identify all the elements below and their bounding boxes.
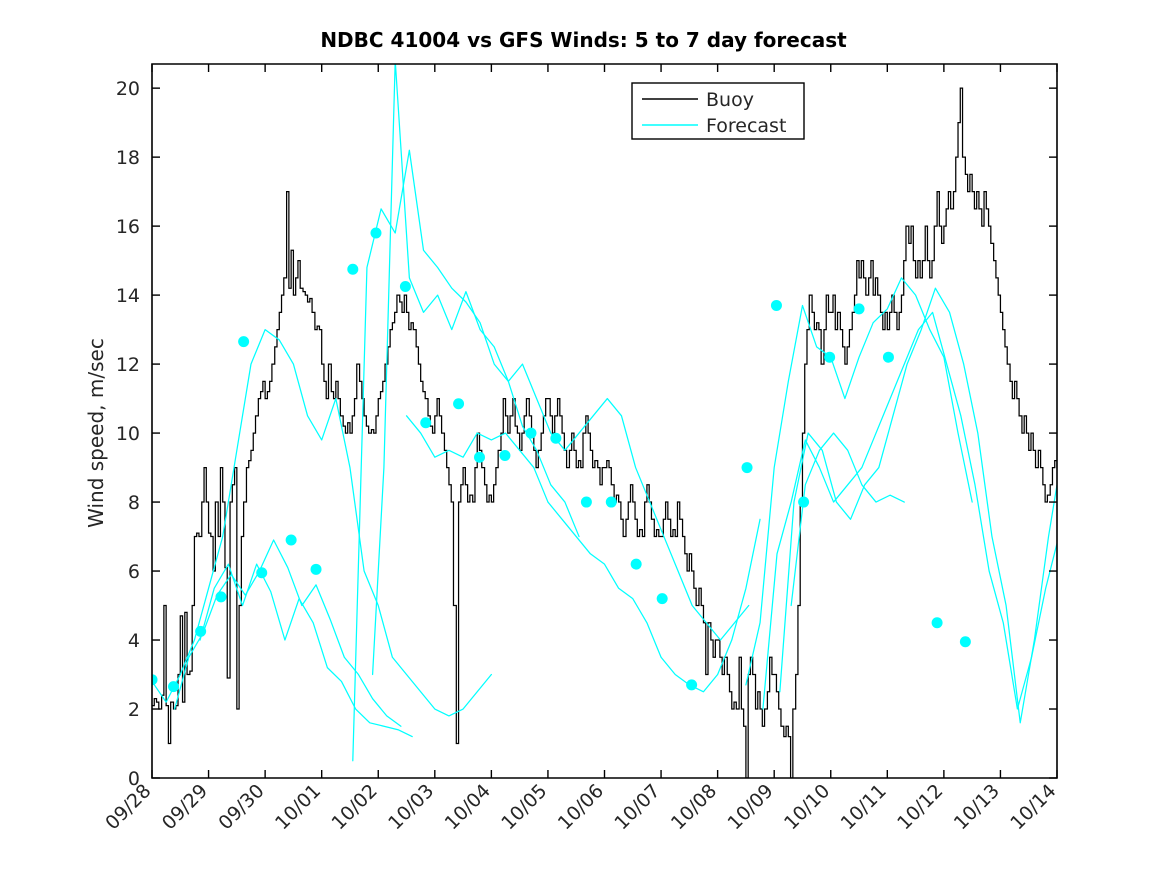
forecast-marker-point [347,264,358,275]
x-tick-label: 10/13 [950,780,1004,834]
forecast-marker-point [631,559,642,570]
y-tick-label: 10 [116,423,140,445]
forecast-marker-point [883,352,894,363]
forecast-marker-point [453,398,464,409]
forecast-series-line-5 [373,61,749,675]
x-tick-label: 10/11 [837,780,891,834]
forecast-marker-point [499,450,510,461]
plot-frame [152,64,1057,778]
x-tick-label: 10/12 [893,780,947,834]
forecast-marker-point [311,564,322,575]
wind-speed-line-chart: 0246810121416182009/2809/2909/3010/0110/… [0,0,1167,875]
x-tick-label: 10/14 [1006,780,1060,834]
x-tick-label: 10/08 [667,780,721,834]
forecast-series-line-4 [353,150,579,761]
series-layer [152,61,1057,778]
forecast-marker-point [824,352,835,363]
x-tick-label: 10/03 [384,780,438,834]
forecast-marker-point [370,228,381,239]
x-tick-label: 10/06 [554,780,608,834]
forecast-marker-point [932,617,943,628]
forecast-marker-point [606,497,617,508]
x-tick-label: 09/29 [158,780,212,834]
forecast-marker-point [771,300,782,311]
y-tick-label: 16 [116,216,140,238]
forecast-series-line-10 [791,433,904,605]
forecast-series-line-1 [152,330,491,716]
axes-layer: 0246810121416182009/2809/2909/3010/0110/… [101,64,1060,834]
forecast-marker-point [525,428,536,439]
x-tick-label: 10/01 [271,780,325,834]
buoy-series-line [152,88,1057,778]
forecast-marker-point [686,679,697,690]
x-tick-label: 10/10 [780,780,834,834]
x-tick-label: 10/09 [723,780,777,834]
legend[interactable]: BuoyForecast [632,83,804,139]
forecast-marker-point [216,591,227,602]
forecast-marker-point [854,303,865,314]
y-tick-label: 18 [116,147,140,169]
y-tick-label: 2 [128,699,140,721]
figure-canvas: NDBC 41004 vs GFS Winds: 5 to 7 day fore… [0,0,1167,875]
y-tick-label: 4 [128,630,140,652]
y-tick-label: 14 [116,285,140,307]
legend-label-buoy[interactable]: Buoy [706,89,754,111]
forecast-marker-point [286,535,297,546]
forecast-marker-point [960,636,971,647]
forecast-marker-point [420,417,431,428]
forecast-marker-point [238,336,249,347]
forecast-marker-point [550,433,561,444]
x-tick-label: 09/30 [214,780,268,834]
x-tick-label: 10/02 [328,780,382,834]
forecast-marker-point [742,462,753,473]
y-tick-label: 6 [128,561,140,583]
forecast-marker-point [256,567,267,578]
forecast-series-line-8 [763,312,1057,709]
y-tick-label: 20 [116,78,140,100]
forecast-marker-point [168,681,179,692]
forecast-marker-point [195,626,206,637]
forecast-marker-point [798,497,809,508]
forecast-markers-layer [147,228,971,693]
y-tick-label: 8 [128,492,140,514]
legend-label-forecast[interactable]: Forecast [706,115,786,137]
x-tick-label: 10/05 [497,780,551,834]
y-tick-label: 12 [116,354,140,376]
forecast-marker-point [474,452,485,463]
x-tick-label: 10/04 [441,780,495,834]
forecast-marker-point [581,497,592,508]
x-tick-label: 10/07 [610,780,664,834]
forecast-series-line-3 [200,564,412,736]
forecast-marker-point [400,281,411,292]
forecast-marker-point [657,593,668,604]
